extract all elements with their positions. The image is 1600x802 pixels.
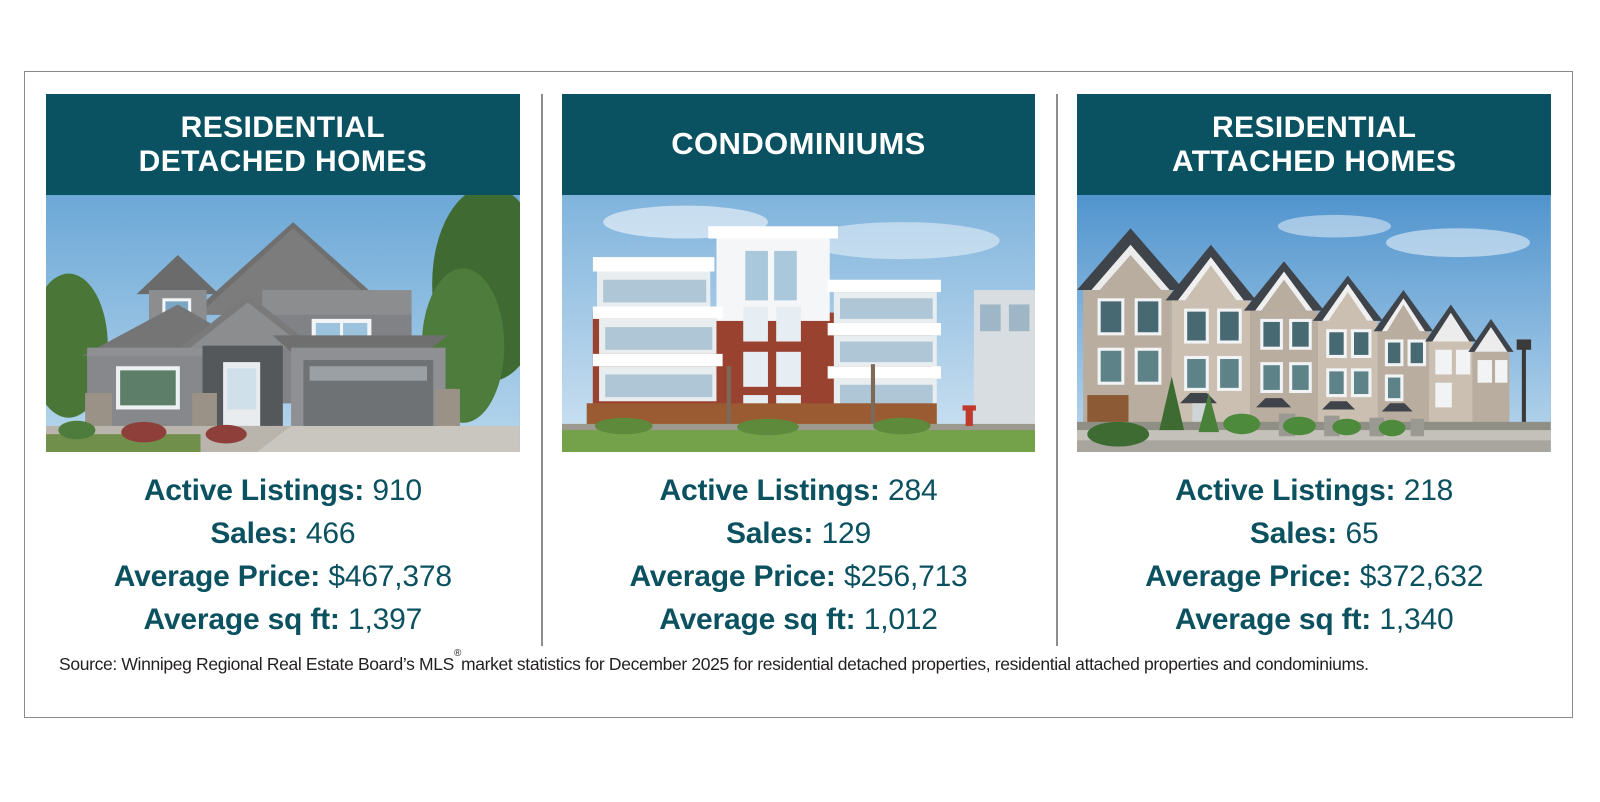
stat-label: Active Listings: bbox=[660, 474, 880, 507]
panel-title-line1: RESIDENTIAL bbox=[1212, 111, 1416, 144]
stat-row-average-sq-ft: Average sq ft: 1,340 bbox=[1175, 598, 1454, 641]
stat-value: $467,378 bbox=[328, 560, 452, 593]
source-note-text-part1: Source: Winnipeg Regional Real Estate Bo… bbox=[59, 654, 454, 675]
photo-attached-townhomes bbox=[1077, 195, 1551, 452]
stat-row-average-price: Average Price: $256,713 bbox=[629, 555, 967, 598]
photo-condominium-building bbox=[562, 195, 1036, 452]
stat-value: 284 bbox=[888, 474, 937, 507]
detached-house-illustration bbox=[46, 195, 520, 452]
stat-value: 129 bbox=[822, 517, 871, 550]
stat-value: 1,012 bbox=[864, 603, 938, 636]
panel-condominiums: CONDOMINIUMS bbox=[541, 72, 1057, 646]
stat-label: Average Price: bbox=[629, 560, 835, 593]
stat-value: $372,632 bbox=[1360, 560, 1484, 593]
panel-row: RESIDENTIAL DETACHED HOMES bbox=[25, 72, 1572, 646]
stat-label: Active Listings: bbox=[1175, 474, 1395, 507]
stat-value: 1,397 bbox=[348, 603, 422, 636]
stat-value: 65 bbox=[1345, 517, 1378, 550]
stat-row-average-price: Average Price: $372,632 bbox=[1145, 555, 1483, 598]
panel-title-line1: RESIDENTIAL bbox=[181, 111, 385, 144]
panel-title-line1: CONDOMINIUMS bbox=[671, 127, 926, 162]
stat-label: Average sq ft: bbox=[659, 603, 855, 636]
condominium-illustration bbox=[562, 195, 1036, 452]
stat-value: 1,340 bbox=[1379, 603, 1453, 636]
stat-row-average-sq-ft: Average sq ft: 1,397 bbox=[144, 598, 423, 641]
stats-residential-detached-homes: Active Listings: 910 Sales: 466 Average … bbox=[46, 452, 520, 646]
stat-row-sales: Sales: 129 bbox=[726, 512, 871, 555]
source-note: Source: Winnipeg Regional Real Estate Bo… bbox=[25, 646, 1572, 718]
stat-row-active-listings: Active Listings: 910 bbox=[144, 469, 422, 512]
stat-value: $256,713 bbox=[844, 560, 968, 593]
stat-label: Active Listings: bbox=[144, 474, 364, 507]
stat-row-active-listings: Active Listings: 284 bbox=[660, 469, 938, 512]
townhomes-illustration bbox=[1077, 195, 1551, 452]
stat-value: 218 bbox=[1404, 474, 1453, 507]
market-statistics-infographic: RESIDENTIAL DETACHED HOMES bbox=[24, 71, 1573, 718]
stat-row-sales: Sales: 466 bbox=[210, 512, 355, 555]
panel-title-line2: DETACHED HOMES bbox=[139, 145, 427, 178]
photo-detached-house bbox=[46, 195, 520, 452]
stat-label: Sales: bbox=[210, 517, 297, 550]
stat-value: 910 bbox=[372, 474, 421, 507]
stat-row-sales: Sales: 65 bbox=[1250, 512, 1379, 555]
panel-title-line2: ATTACHED HOMES bbox=[1172, 145, 1456, 178]
stat-row-average-price: Average Price: $467,378 bbox=[114, 555, 452, 598]
stat-row-average-sq-ft: Average sq ft: 1,012 bbox=[659, 598, 938, 641]
stat-label: Average sq ft: bbox=[144, 603, 340, 636]
stat-label: Sales: bbox=[726, 517, 813, 550]
stat-label: Average Price: bbox=[114, 560, 320, 593]
panel-title-residential-detached-homes: RESIDENTIAL DETACHED HOMES bbox=[46, 94, 520, 195]
stat-value: 466 bbox=[306, 517, 355, 550]
panel-title-condominiums: CONDOMINIUMS bbox=[562, 94, 1036, 195]
panel-residential-attached-homes: RESIDENTIAL ATTACHED HOMES bbox=[1056, 72, 1572, 646]
stats-condominiums: Active Listings: 284 Sales: 129 Average … bbox=[562, 452, 1036, 646]
stat-label: Average Price: bbox=[1145, 560, 1351, 593]
source-note-text-part2: market statistics for December 2025 for … bbox=[461, 654, 1369, 675]
stat-label: Average sq ft: bbox=[1175, 603, 1371, 636]
stat-label: Sales: bbox=[1250, 517, 1337, 550]
panel-title-residential-attached-homes: RESIDENTIAL ATTACHED HOMES bbox=[1077, 94, 1551, 195]
stats-residential-attached-homes: Active Listings: 218 Sales: 65 Average P… bbox=[1077, 452, 1551, 646]
stat-row-active-listings: Active Listings: 218 bbox=[1175, 469, 1453, 512]
panel-residential-detached-homes: RESIDENTIAL DETACHED HOMES bbox=[25, 72, 541, 646]
